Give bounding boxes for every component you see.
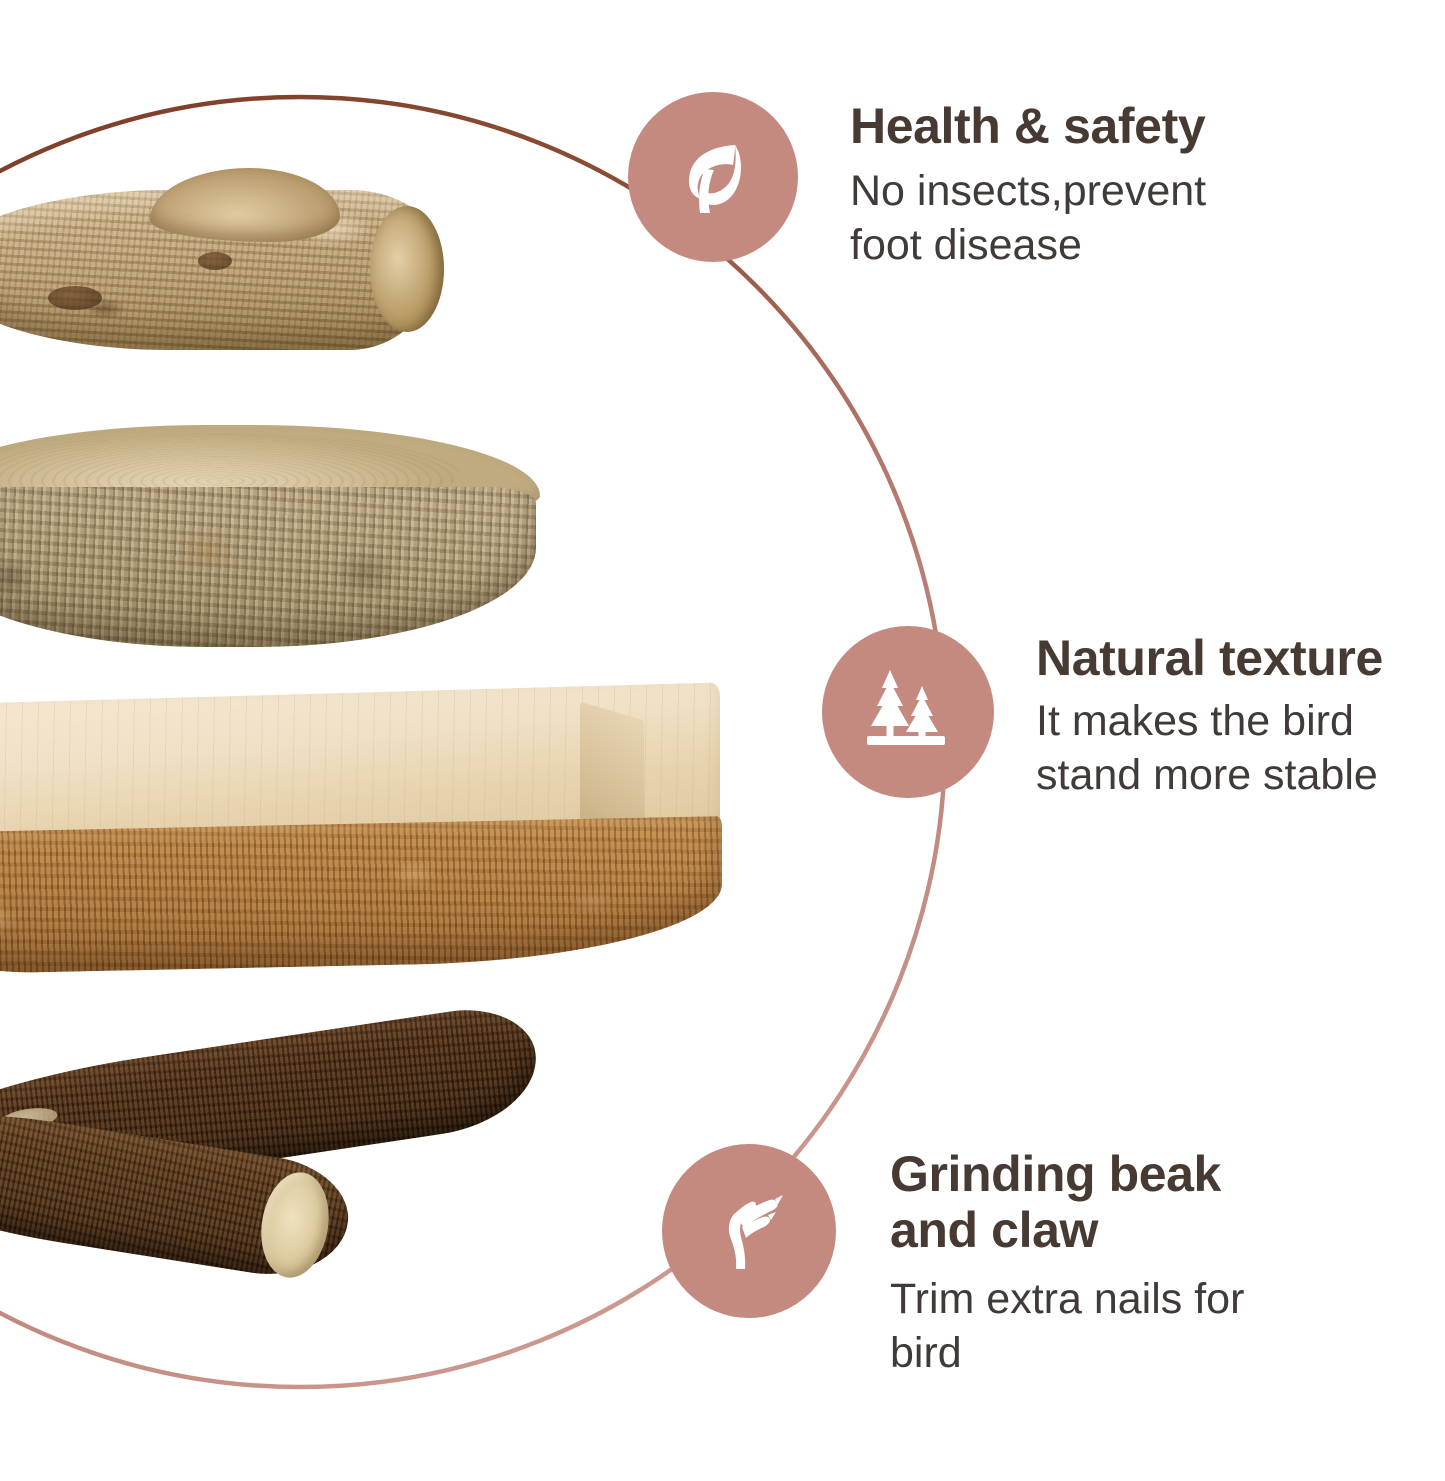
feature-claw-subtitle: Trim extra nails for bird bbox=[890, 1272, 1310, 1380]
feature-texture-text: Natural texture It makes the bird stand … bbox=[1036, 630, 1436, 802]
infographic-canvas: Health & safety No insects,prevent foot … bbox=[0, 0, 1445, 1481]
feature-natural-texture: Natural texture It makes the bird stand … bbox=[822, 626, 1436, 802]
bird-claw-icon bbox=[701, 1183, 797, 1279]
pine-trees-icon bbox=[858, 662, 958, 762]
feature-badge-health bbox=[628, 92, 798, 262]
wood-slice-disc bbox=[0, 425, 540, 660]
branch-knot bbox=[48, 286, 102, 310]
feature-claw-text: Grinding beak and claw Trim extra nails … bbox=[890, 1146, 1310, 1380]
feature-badge-texture bbox=[822, 626, 994, 798]
branch-knot bbox=[198, 252, 232, 270]
feature-health-and-safety: Health & safety No insects,prevent foot … bbox=[628, 92, 1280, 272]
feature-texture-title: Natural texture bbox=[1036, 630, 1436, 686]
feature-health-text: Health & safety No insects,prevent foot … bbox=[850, 98, 1280, 272]
feature-texture-subtitle: It makes the bird stand more stable bbox=[1036, 694, 1436, 802]
live-edge-plank bbox=[0, 705, 720, 1025]
plank-bark-side bbox=[0, 816, 722, 975]
wood-slice-bark-edge bbox=[0, 487, 536, 647]
wood-branch-perch bbox=[0, 190, 440, 350]
feature-grinding-beak-and-claw: Grinding beak and claw Trim extra nails … bbox=[662, 1144, 1310, 1380]
leaf-icon bbox=[665, 129, 761, 225]
feature-health-title: Health & safety bbox=[850, 98, 1280, 154]
feature-health-subtitle: No insects,prevent foot disease bbox=[850, 164, 1280, 272]
feature-badge-claw bbox=[662, 1144, 836, 1318]
feature-claw-title: Grinding beak and claw bbox=[890, 1146, 1310, 1258]
